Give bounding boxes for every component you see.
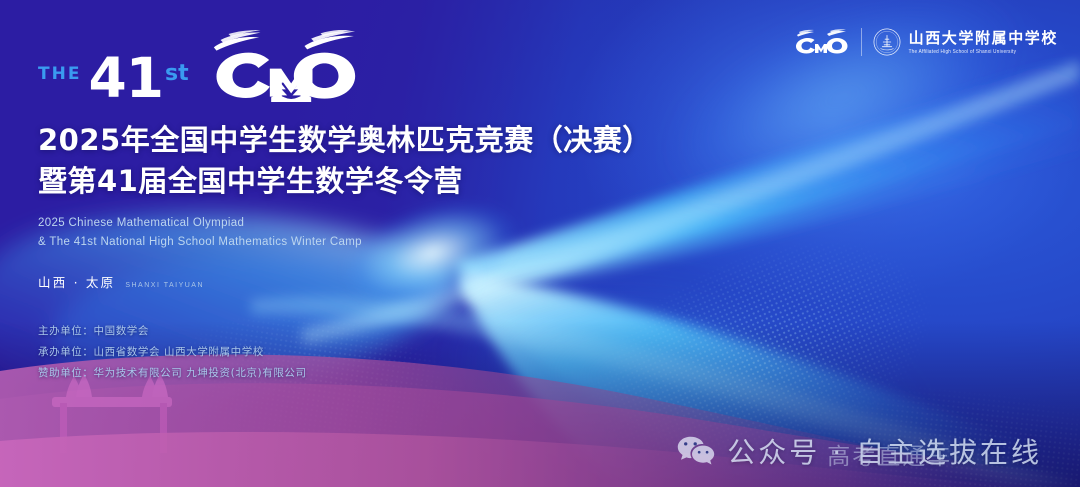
organizer-coorganizer: 承办单位：山西省数学会 山西大学附属中学校 xyxy=(38,342,738,363)
cmo-logo-icon xyxy=(205,30,360,102)
title-en-line1: 2025 Chinese Mathematical Olympiad xyxy=(38,214,738,233)
main-content: THE 41 st xyxy=(38,0,738,385)
school-name-en: The Affiliated High School of Shanxi Uni… xyxy=(909,49,1058,55)
title-en-line2: & The 41st National High School Mathemat… xyxy=(38,233,738,252)
edition-the-label: THE xyxy=(38,64,81,84)
cmo-logo-mini-icon xyxy=(794,29,850,55)
location-cn: 山西 · 太原 xyxy=(38,272,115,291)
edition-number: 41 xyxy=(88,53,163,104)
edition-ordinal: st xyxy=(165,61,189,86)
watermark-ghost-text: 高考直通车 xyxy=(827,437,952,471)
edition-number-block: THE 41 st xyxy=(38,53,189,104)
wechat-watermark: 公众号 · 自主选拔在线 高考直通车 xyxy=(677,431,1042,471)
event-location: 山西 · 太原 SHANXI TAIYUAN xyxy=(38,272,738,291)
location-en: SHANXI TAIYUAN xyxy=(125,282,204,289)
organizer-list: 主办单位：中国数学会 承办单位：山西省数学会 山西大学附属中学校 赞助单位：华为… xyxy=(38,321,738,385)
wechat-icon xyxy=(677,435,715,467)
page-title: 2025年全国中学生数学奥林匹克竞赛（决赛） 暨第41届全国中学生数学冬令营 xyxy=(38,120,738,202)
title-cn-line2: 暨第41届全国中学生数学冬令营 xyxy=(38,161,738,202)
cmo-event-banner: 山西大学附属中学校 The Affiliated High School of … xyxy=(0,0,1080,487)
organizer-host: 主办单位：中国数学会 xyxy=(38,321,738,342)
school-logo: 山西大学附属中学校 The Affiliated High School of … xyxy=(873,28,1058,56)
edition-row: THE 41 st xyxy=(38,0,738,104)
organizer-sponsor: 赞助单位：华为技术有限公司 九坤投资(北京)有限公司 xyxy=(38,363,738,384)
top-logo-group: 山西大学附属中学校 The Affiliated High School of … xyxy=(794,28,1058,56)
school-name-cn: 山西大学附属中学校 xyxy=(909,31,1058,46)
title-cn-line1: 2025年全国中学生数学奥林匹克竞赛（决赛） xyxy=(38,120,738,161)
school-name-block: 山西大学附属中学校 The Affiliated High School of … xyxy=(909,31,1058,54)
school-seal-icon xyxy=(873,28,901,56)
title-en-block: 2025 Chinese Mathematical Olympiad & The… xyxy=(38,214,738,251)
logo-divider xyxy=(861,28,862,56)
